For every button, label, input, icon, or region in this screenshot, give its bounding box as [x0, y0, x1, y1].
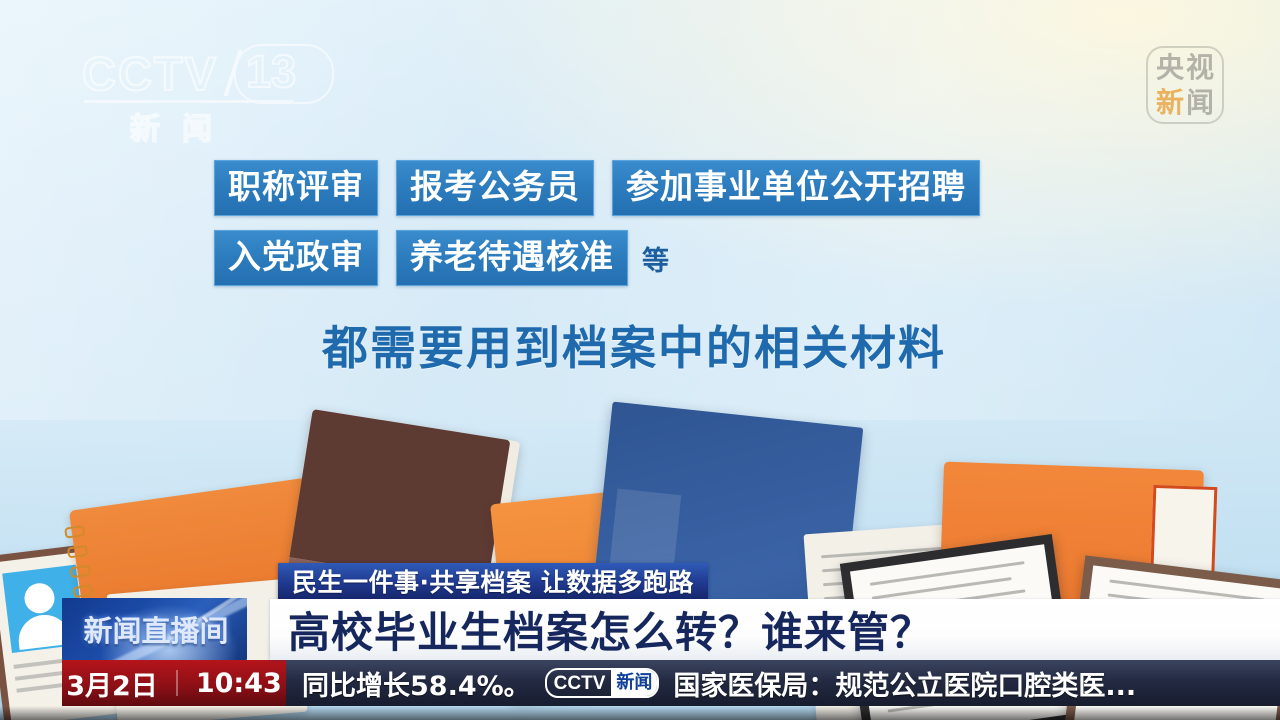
- watermark-char-yang: 央: [1156, 53, 1184, 83]
- tag-row-1: 职称评审 报考公务员 参加事业单位公开招聘: [214, 160, 1114, 216]
- channel-logo-cctv-text: CCTV: [82, 46, 218, 101]
- watermark-char-shi: 视: [1186, 53, 1214, 83]
- tag-baokao-gongwuyuan: 报考公务员: [396, 160, 594, 216]
- lower-third-headline-text: 高校毕业生档案怎么转？谁来管？: [270, 599, 933, 660]
- info-graphic-tags: 职称评审 报考公务员 参加事业单位公开招聘 入党政审 养老待遇核准 等: [214, 160, 1114, 300]
- broadcast-time: 10:43: [196, 668, 282, 699]
- channel-logo-subtitle: 新闻: [130, 104, 234, 148]
- cctv-news-badge: CCTV 新闻: [545, 668, 660, 698]
- lower-third-headline-band: 高校毕业生档案怎么转？谁来管？: [270, 599, 1280, 660]
- program-logo-xinwen-zhibojian: 新闻直播间: [62, 598, 247, 660]
- ticker-right-text: 国家医保局：规范公立医院口腔类医...: [673, 664, 1136, 703]
- cctv13-channel-logo: CCTV 13 新闻: [74, 48, 324, 140]
- badge-cctv-text: CCTV: [554, 674, 606, 693]
- program-logo-text: 新闻直播间: [68, 608, 244, 650]
- badge-news-text: 新闻: [616, 674, 652, 692]
- tag-rudang-zhengshen: 入党政审: [214, 230, 378, 286]
- news-ticker: 同比增长58.4%。 CCTV 新闻 国家医保局：规范公立医院口腔类医...: [286, 660, 1280, 706]
- cctv-news-badge-left: CCTV: [547, 670, 612, 696]
- lower-third-topic-bar: 民生一件事·共享档案 让数据多跑路: [278, 563, 708, 599]
- cctv-news-badge-right: 新闻: [611, 670, 657, 696]
- lower-third-topic-text: 民生一件事·共享档案 让数据多跑路: [292, 563, 694, 599]
- tag-row-2: 入党政审 养老待遇核准 等: [214, 230, 1114, 286]
- watermark-char-wen: 闻: [1186, 88, 1214, 118]
- channel-logo-number: 13: [246, 46, 296, 98]
- date-time-separator: [176, 670, 178, 696]
- watermark-char-xin: 新: [1156, 88, 1184, 118]
- illus-notebook-spiral: [69, 474, 328, 510]
- graphic-conclusion-text: 都需要用到档案中的相关材料: [322, 312, 946, 378]
- tv-broadcast-frame: CCTV 13 新闻 央 视 新 闻 职称评审 报考公务员 参加事业单位公开招聘…: [0, 0, 1280, 720]
- cctv-news-watermark: 央 视 新 闻: [1146, 46, 1224, 124]
- tag-shiye-danwei-zhaopin: 参加事业单位公开招聘: [612, 160, 980, 216]
- tag-yanglao-daiyu-hezhun: 养老待遇核准: [396, 230, 628, 286]
- channel-logo-underline: [84, 100, 294, 103]
- date-time-bar: 3月2日 10:43: [62, 660, 286, 706]
- bottom-edge-shadow: [0, 706, 1280, 720]
- tag-suffix-deng: 等: [642, 239, 669, 278]
- tag-zhicheng-pingshen: 职称评审: [214, 160, 378, 216]
- ticker-left-text: 同比增长58.4%。: [286, 664, 531, 703]
- broadcast-date: 3月2日: [66, 664, 158, 703]
